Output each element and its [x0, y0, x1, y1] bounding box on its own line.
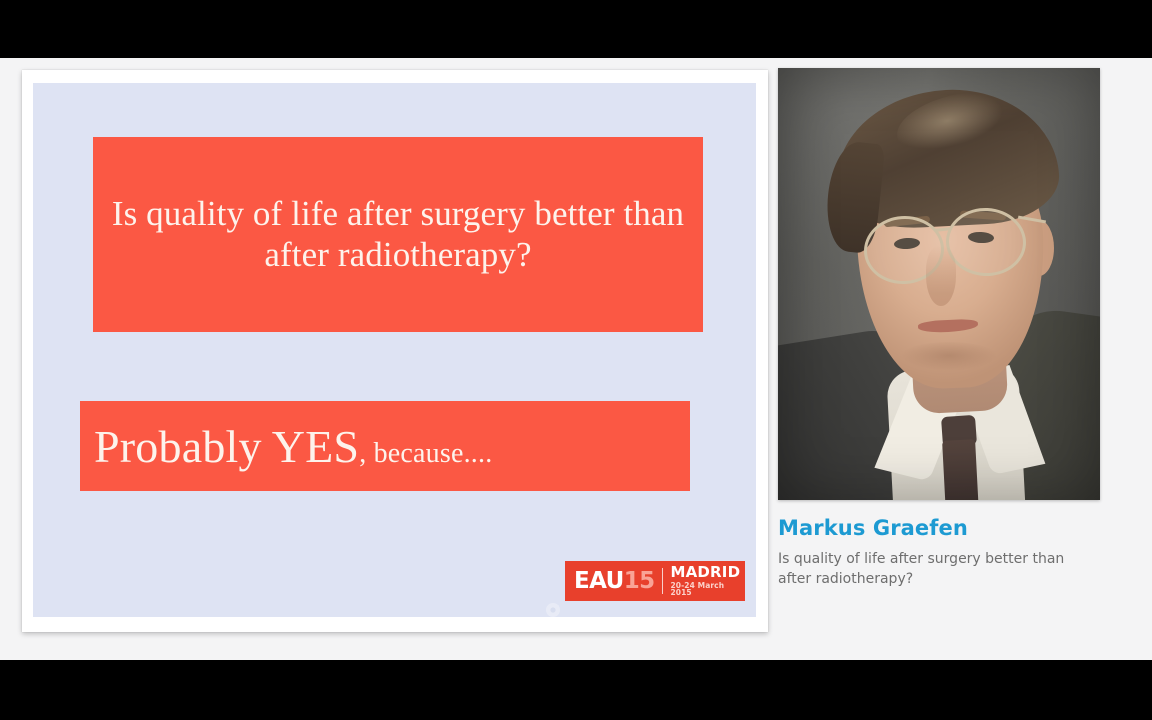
- question-text: Is quality of life after surgery better …: [93, 194, 703, 276]
- question-banner: Is quality of life after surgery better …: [93, 137, 703, 332]
- letterbox-bar-bottom: [0, 660, 1152, 720]
- logo-city-block: MADRID 20-24 March 2015: [670, 565, 745, 598]
- answer-tail-text: , because....: [359, 438, 492, 469]
- presentation-stage: Is quality of life after surgery better …: [0, 58, 1152, 660]
- gear-icon: [545, 602, 561, 617]
- video-player-viewport: Is quality of life after surgery better …: [0, 0, 1152, 720]
- eau-mark-year: 15: [624, 568, 655, 594]
- eau15-wordmark: EAU15: [574, 570, 655, 593]
- speaker-panel: Markus Graefen Is quality of life after …: [778, 68, 1103, 590]
- letterbox-bar-top: [0, 0, 1152, 58]
- answer-banner: Probably YES, because....: [80, 401, 690, 491]
- eau-mark-prefix: EAU: [574, 568, 624, 594]
- slide-card[interactable]: Is quality of life after surgery better …: [22, 70, 768, 632]
- answer-text: Probably YES, because....: [94, 420, 492, 473]
- slide-surface: Is quality of life after surgery better …: [33, 83, 756, 617]
- speaker-photo: [778, 68, 1100, 500]
- speaker-description: Is quality of life after surgery better …: [778, 550, 1093, 590]
- answer-strong-text: Probably YES: [94, 421, 359, 472]
- photo-vignette: [778, 68, 1100, 500]
- speaker-name: Markus Graefen: [778, 516, 1103, 540]
- logo-city: MADRID: [670, 565, 745, 581]
- logo-divider: [662, 568, 663, 594]
- eau15-logo: EAU15 MADRID 20-24 March 2015: [565, 561, 745, 601]
- logo-dates: 20-24 March 2015: [670, 582, 745, 598]
